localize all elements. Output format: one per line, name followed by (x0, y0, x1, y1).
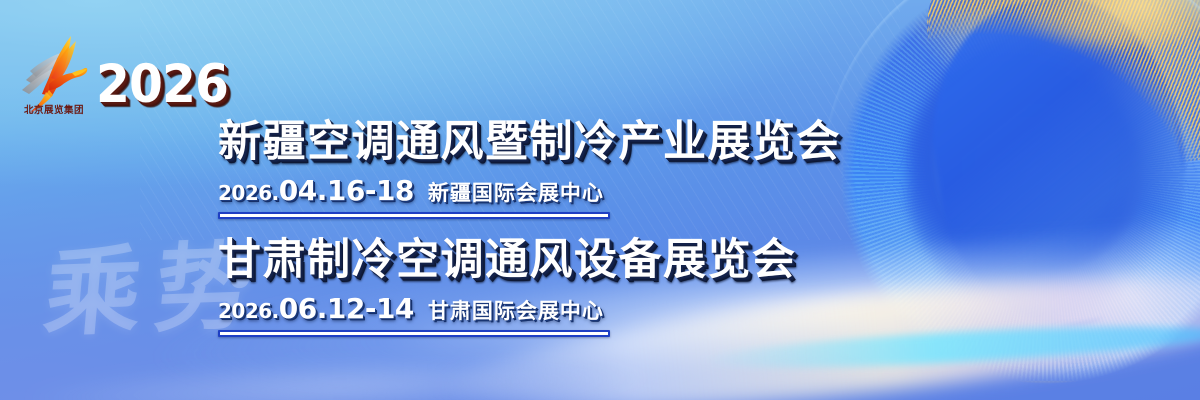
event-divider-2 (218, 330, 610, 337)
section-spacer (218, 219, 878, 236)
event-date-year-1: 2026. (218, 181, 279, 205)
swirl-ring-outer (840, 0, 1200, 384)
event-venue-1: 新疆国际会展中心 (428, 177, 604, 207)
event-block-1: 新疆空调通风暨制冷产业展览会 2026. 04.16-18 新疆国际会展中心 (218, 118, 878, 219)
event-venue-2: 甘肃国际会展中心 (428, 295, 604, 325)
event-title-1: 新疆空调通风暨制冷产业展览会 (218, 118, 878, 166)
event-dateline-2: 2026. 06.12-14 甘肃国际会展中心 (218, 292, 878, 325)
gold-ribbon-glow (995, 0, 1200, 70)
soft-bottom-glow (0, 347, 721, 400)
event-block-2: 甘肃制冷空调通风设备展览会 2026. 06.12-14 甘肃国际会展中心 (218, 236, 878, 337)
swirl-rim-highlight (822, 0, 1200, 400)
swirl-core-glow (904, 30, 1194, 320)
event-banner: 乘势 (0, 0, 1200, 400)
event-date-year-2: 2026. (218, 299, 279, 323)
event-title-2: 甘肃制冷空调通风设备展览会 (218, 236, 878, 284)
event-dateline-1: 2026. 04.16-18 新疆国际会展中心 (218, 174, 878, 207)
brand-lockup: 北京展览集团 2026 (16, 28, 240, 115)
logo-caption-text: 北京展览集团 (21, 102, 87, 116)
swirl-ring-stripes (840, 0, 1200, 384)
phoenix-bird-logo-icon: 北京展览集团 (16, 28, 90, 114)
event-divider-1 (218, 212, 610, 219)
event-listing: 新疆空调通风暨制冷产业展览会 2026. 04.16-18 新疆国际会展中心 甘… (218, 118, 878, 337)
year-badge: 2026 (96, 54, 228, 115)
event-date-range-2: 06.12-14 (279, 292, 414, 325)
swirl-crescent (910, 0, 1200, 344)
gold-striped-ribbon (912, 0, 1200, 188)
event-date-range-1: 04.16-18 (279, 174, 414, 207)
